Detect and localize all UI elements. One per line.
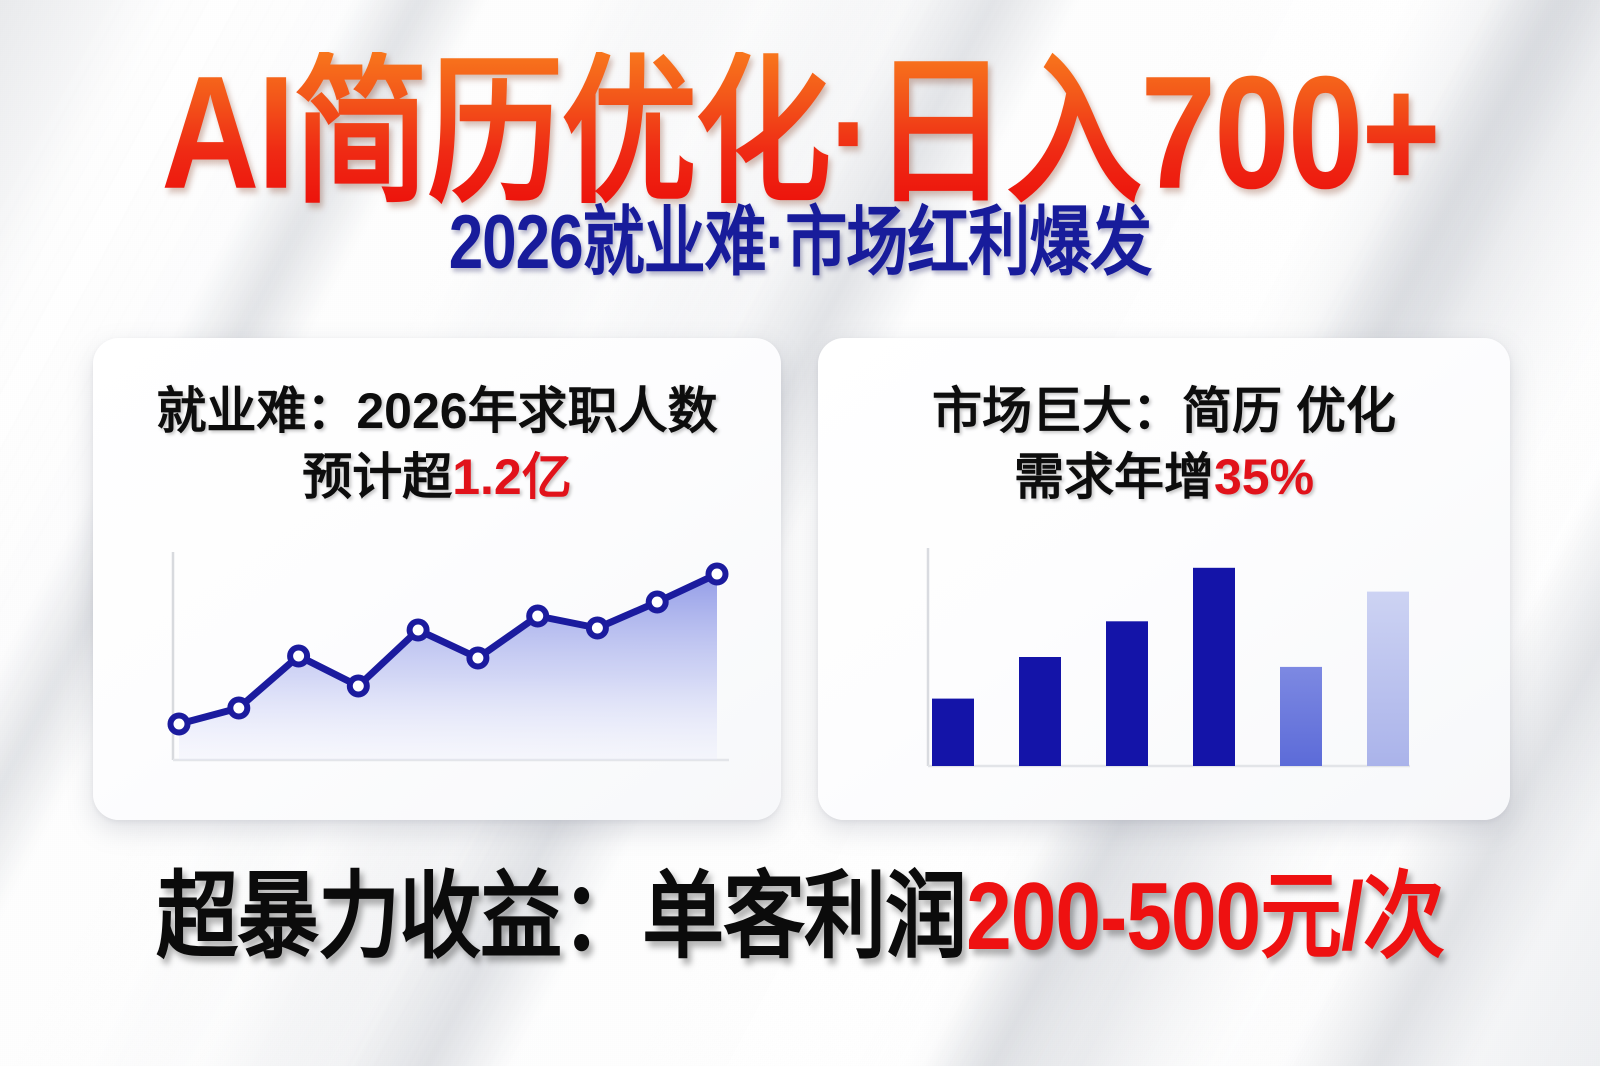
line-chart-job-seekers (161, 538, 741, 788)
bar-chart-bar (1193, 568, 1235, 766)
poster-footer: 超暴力收益：单客利润200-500元/次 (156, 870, 1444, 965)
card-title-employment: 就业难：2026年求职人数 预计超1.2亿 (93, 378, 781, 510)
line-chart-point (709, 566, 726, 583)
card-title-prefix: 预计超 (302, 449, 452, 505)
card-title-line2: 需求年增35% (818, 444, 1510, 510)
line-chart-point (350, 678, 367, 695)
subheadline-container: 2026就业难·市场红利爆发 (0, 206, 1600, 268)
line-chart-point (529, 608, 546, 625)
card-title-market: 市场巨大：简历 优化 需求年增35% (818, 378, 1510, 510)
footer-black-text: 超暴力收益：单客利润 (156, 864, 966, 970)
stat-card-market: 市场巨大：简历 优化 需求年增35% (818, 338, 1510, 820)
footer-container: 超暴力收益：单客利润200-500元/次 (0, 870, 1600, 952)
line-chart-svg (161, 538, 741, 788)
bar-chart-bar (932, 699, 974, 766)
bar-chart-bar (1280, 667, 1322, 766)
bar-chart-svg (898, 534, 1418, 790)
line-chart-point (290, 648, 307, 665)
bar-chart-market-demand (898, 534, 1418, 790)
card-title-line1: 就业难：2026年求职人数 (93, 378, 781, 444)
line-chart-point (649, 594, 666, 611)
line-chart-point (230, 700, 247, 717)
poster-subheadline: 2026就业难·市场红利爆发 (449, 206, 1152, 282)
line-chart-point (171, 716, 188, 733)
footer-red-text: 200-500元/次 (966, 864, 1444, 970)
card-title-highlight: 35% (1214, 449, 1314, 505)
bar-chart-bar (1106, 621, 1148, 766)
bar-chart-bar (1019, 657, 1061, 766)
card-title-highlight: 1.2亿 (452, 449, 572, 505)
bar-chart-bar (1367, 592, 1409, 766)
headline-container: AI简历优化·日入700+ (0, 52, 1600, 188)
card-title-prefix: 需求年增 (1014, 449, 1214, 505)
poster-headline: AI简历优化·日入700+ (161, 52, 1439, 212)
line-chart-point (589, 620, 606, 637)
card-title-line2: 预计超1.2亿 (93, 444, 781, 510)
line-chart-area-fill (179, 574, 717, 760)
bar-chart-bars (932, 568, 1409, 766)
card-title-line1: 市场巨大：简历 优化 (818, 378, 1510, 444)
stat-card-employment: 就业难：2026年求职人数 预计超1.2亿 (93, 338, 781, 820)
line-chart-point (410, 622, 427, 639)
line-chart-point (469, 650, 486, 667)
